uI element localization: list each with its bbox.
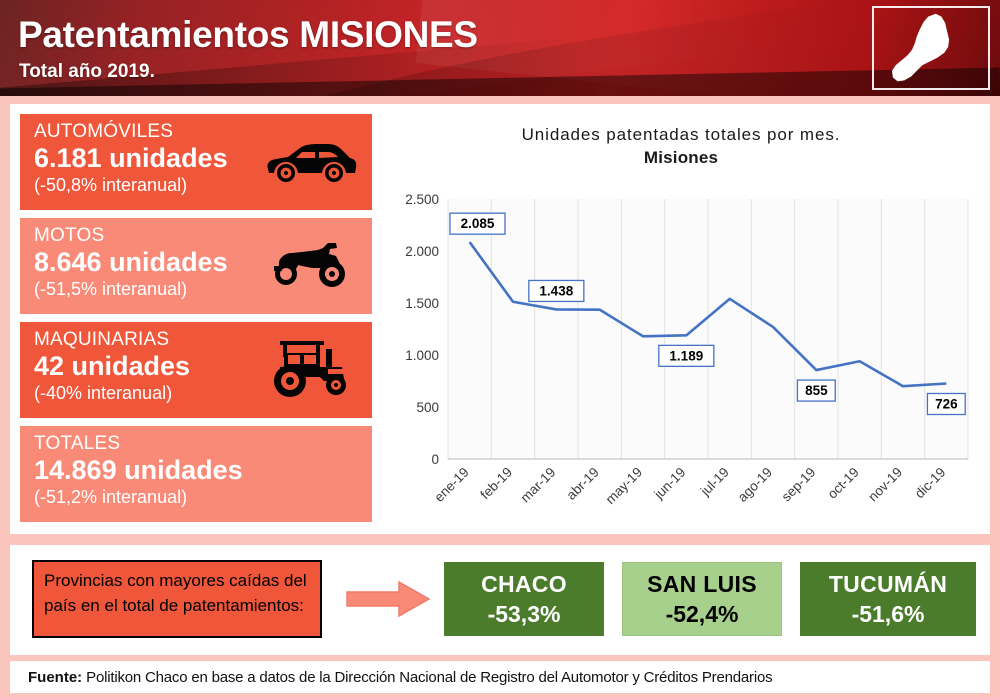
misiones-map-silhouette-icon xyxy=(872,6,990,90)
infographic-page: Patentamientos MISIONES Total año 2019. … xyxy=(0,0,1000,697)
x-tick-label: sep-19 xyxy=(779,465,819,505)
x-tick-label: ene-19 xyxy=(431,465,471,505)
province-value: -53,3% xyxy=(488,601,561,627)
stat-card-value: 14.869 unidades xyxy=(34,455,358,486)
stat-card-label: TOTALES xyxy=(34,434,358,454)
x-tick-label: dic-19 xyxy=(912,465,949,502)
data-label-text: 2.085 xyxy=(461,216,495,231)
x-tick-label: oct-19 xyxy=(825,465,862,502)
source-text: Politikon Chaco en base a datos de la Di… xyxy=(82,669,772,686)
right-arrow-icon xyxy=(345,580,431,618)
provinces-caption: Provincias con mayores caídas del país e… xyxy=(32,560,322,638)
page-title-main: Patentamientos xyxy=(18,14,299,55)
line-chart: 05001.0001.5002.0002.500ene-19feb-19mar-… xyxy=(382,114,980,524)
province-name: TUCUMÁN xyxy=(829,571,947,597)
source-note: Fuente: Politikon Chaco en base a datos … xyxy=(28,669,772,686)
car-icon xyxy=(262,139,358,185)
x-tick-label: feb-19 xyxy=(477,465,515,503)
y-tick-label: 1.500 xyxy=(405,296,439,311)
page-subtitle: Total año 2019. xyxy=(19,61,155,83)
page-title: Patentamientos MISIONES xyxy=(18,14,478,56)
stats-card-list: AUTOMÓVILES 6.181 unidades (-50,8% inter… xyxy=(20,114,372,530)
x-tick-label: jul-19 xyxy=(697,465,732,500)
province-name: CHACO xyxy=(481,571,567,597)
province-card-chaco: CHACO -53,3% xyxy=(444,562,604,636)
source-label: Fuente: xyxy=(28,669,82,686)
page-title-region: MISIONES xyxy=(299,14,478,55)
y-tick-label: 2.000 xyxy=(405,244,439,259)
province-value: -51,6% xyxy=(852,601,925,627)
data-label-text: 855 xyxy=(805,383,828,398)
x-tick-label: mar-19 xyxy=(518,465,559,506)
y-tick-label: 500 xyxy=(416,400,439,415)
header-banner: Patentamientos MISIONES Total año 2019. xyxy=(0,0,1000,96)
province-card-san-luis: SAN LUIS -52,4% xyxy=(622,562,782,636)
x-tick-label: abr-19 xyxy=(564,465,602,503)
data-label-text: 1.438 xyxy=(539,283,573,298)
x-tick-label: jun-19 xyxy=(651,465,689,503)
x-tick-label: ago-19 xyxy=(735,465,775,505)
stat-card-delta: (-51,2% interanual) xyxy=(34,487,358,508)
stat-card-motos: MOTOS 8.646 unidades (-51,5% interanual) xyxy=(20,218,372,314)
data-label-text: 1.189 xyxy=(669,348,703,363)
x-tick-label: may-19 xyxy=(603,465,645,507)
province-name: SAN LUIS xyxy=(647,571,757,597)
province-value: -52,4% xyxy=(666,601,739,627)
tractor-icon xyxy=(264,339,358,401)
chart-container: Unidades patentadas totales por mes. Mis… xyxy=(382,114,980,524)
y-tick-label: 0 xyxy=(431,452,439,467)
stat-card-maquinarias: MAQUINARIAS 42 unidades (-40% interanual… xyxy=(20,322,372,418)
motorcycle-icon xyxy=(266,238,358,294)
stat-card-totales: TOTALES 14.869 unidades (-51,2% interanu… xyxy=(20,426,372,522)
province-card-tucuman: TUCUMÁN -51,6% xyxy=(800,562,976,636)
x-tick-label: nov-19 xyxy=(865,465,905,505)
y-tick-label: 1.000 xyxy=(405,348,439,363)
stat-card-automoviles: AUTOMÓVILES 6.181 unidades (-50,8% inter… xyxy=(20,114,372,210)
y-tick-label: 2.500 xyxy=(405,192,439,207)
data-label-text: 726 xyxy=(935,396,958,411)
